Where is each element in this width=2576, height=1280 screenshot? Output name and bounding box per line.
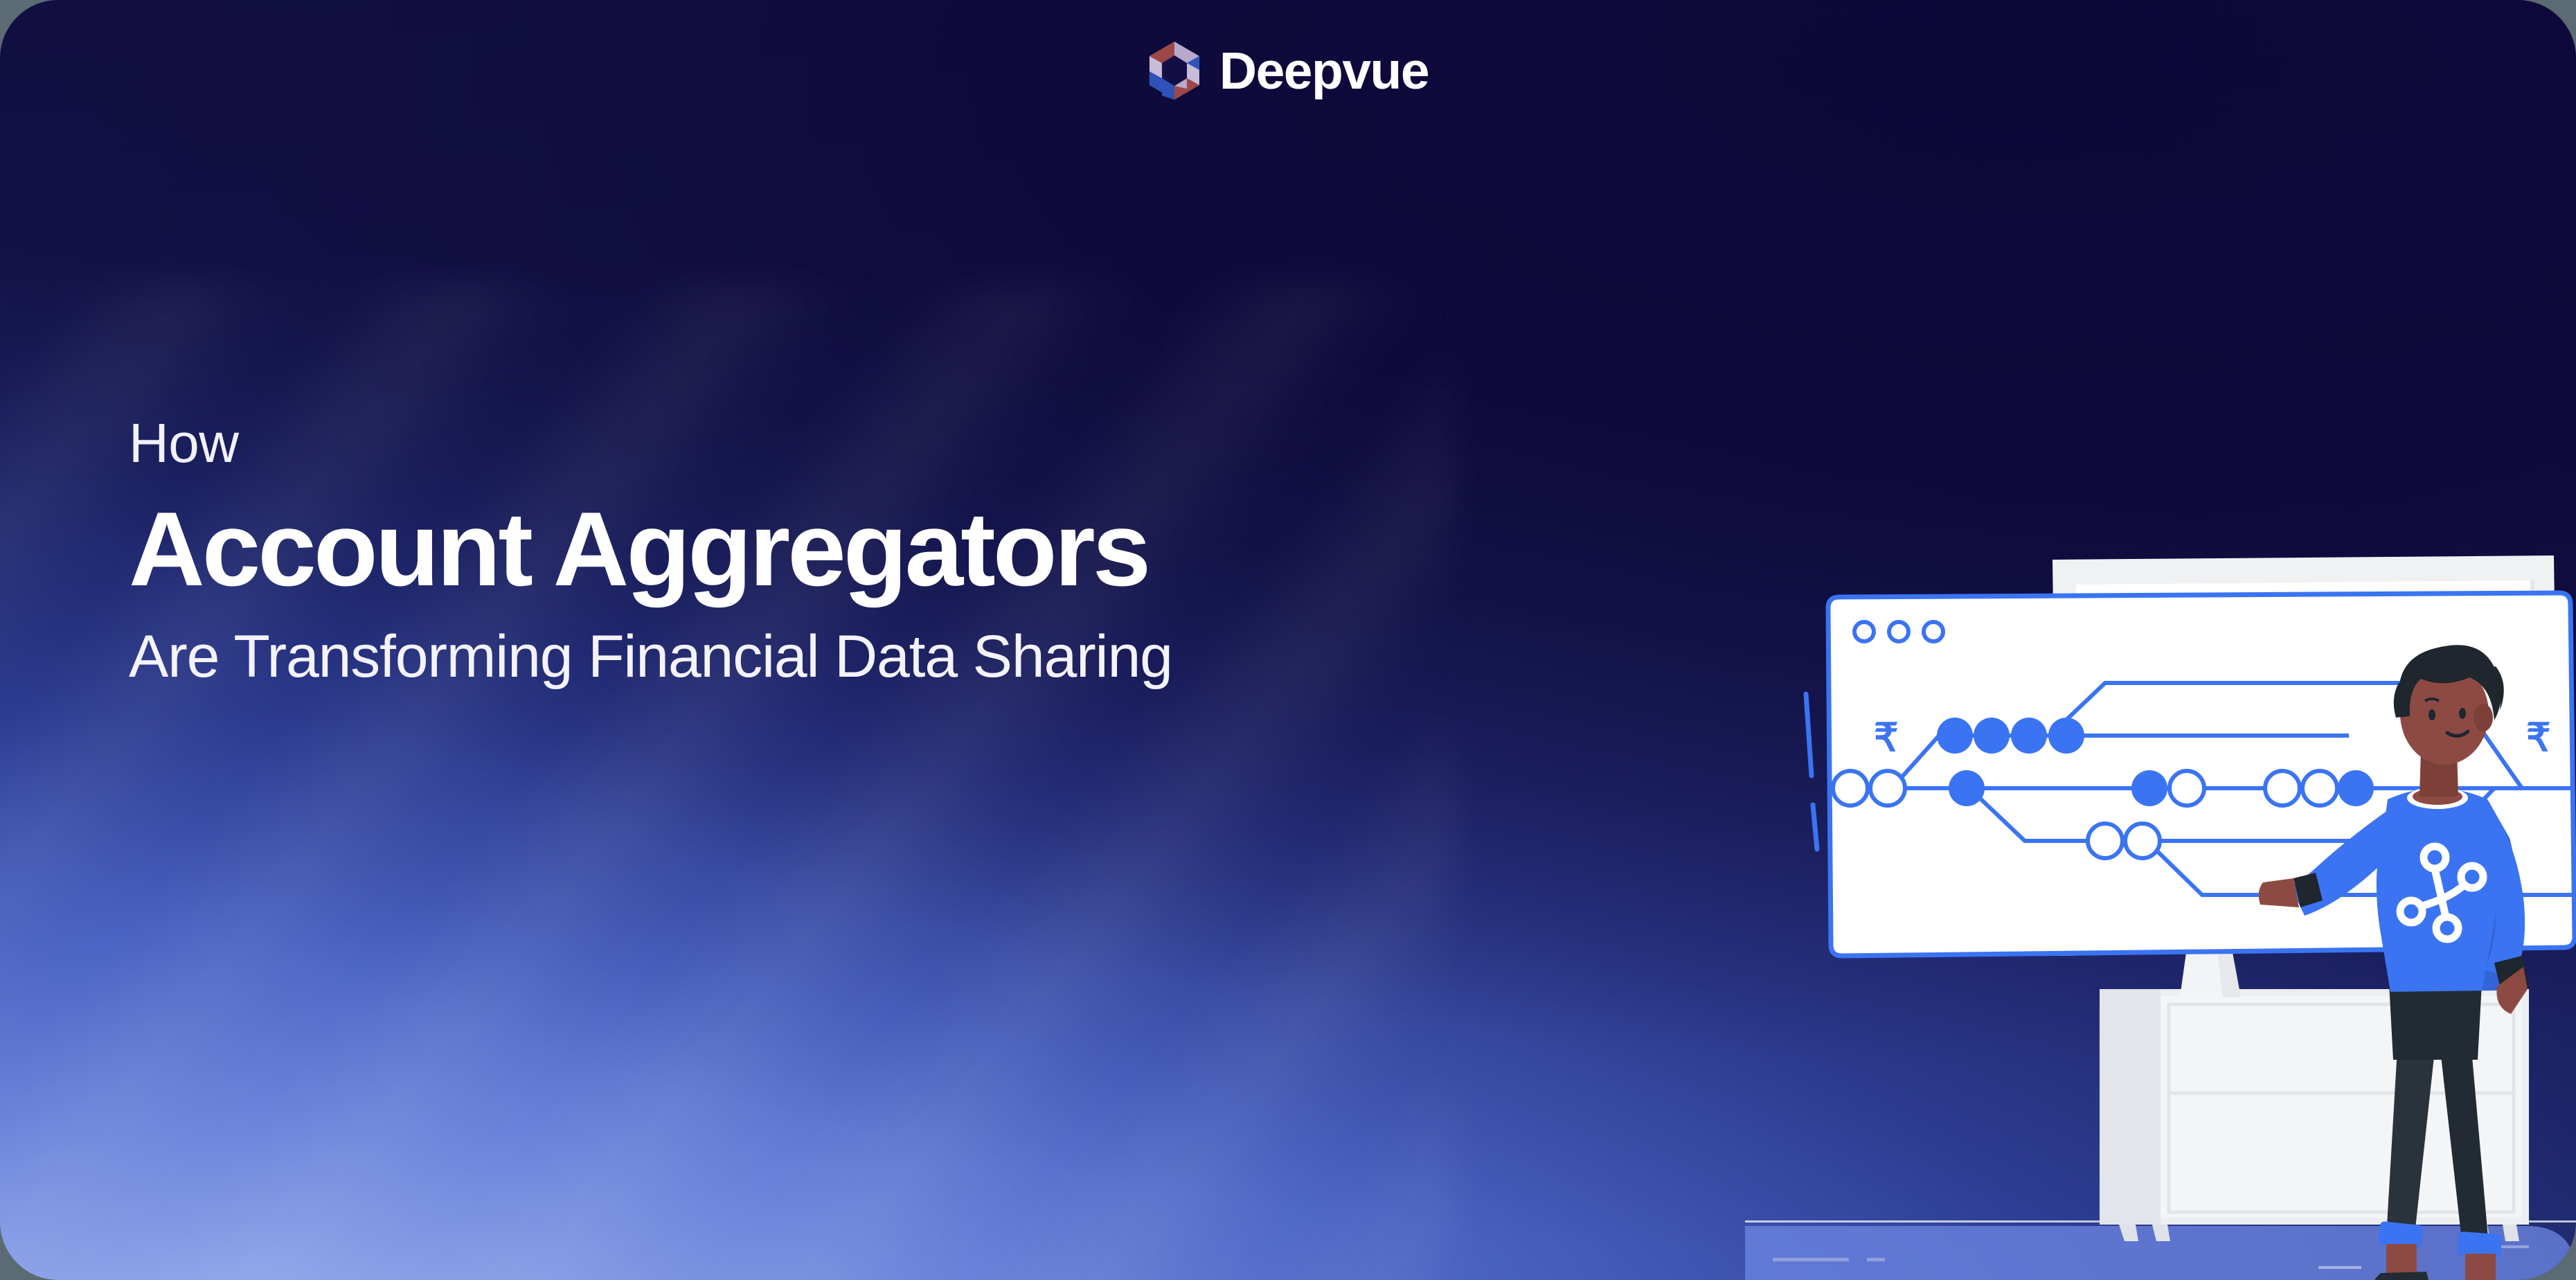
hero-illustration: ₹ ₹ xyxy=(1745,513,2576,1280)
eye-left xyxy=(2429,709,2435,720)
rupee-symbol-left: ₹ xyxy=(1874,715,1899,759)
hero-subhead: Are Transforming Financial Data Sharing xyxy=(129,624,1652,690)
hero-eyebrow: How xyxy=(129,416,1652,471)
hero-copy-block: How Account Aggregators Are Transforming… xyxy=(129,416,1652,690)
eye-right xyxy=(2459,708,2466,719)
hexagon-prism-icon xyxy=(1147,40,1201,101)
brand-wordmark: Deepvue xyxy=(1219,45,1429,97)
accent-tick-top xyxy=(1806,694,1812,776)
hero-headline: Account Aggregators xyxy=(129,496,1652,603)
rupee-symbol-right: ₹ xyxy=(2526,715,2551,759)
brand-logo[interactable]: Deepvue xyxy=(1147,40,1429,101)
left-hand xyxy=(2259,878,2299,907)
accent-tick-bottom xyxy=(1813,805,1817,849)
banner-canvas: Deepvue How Account Aggregators Are Tran… xyxy=(0,0,2576,1280)
